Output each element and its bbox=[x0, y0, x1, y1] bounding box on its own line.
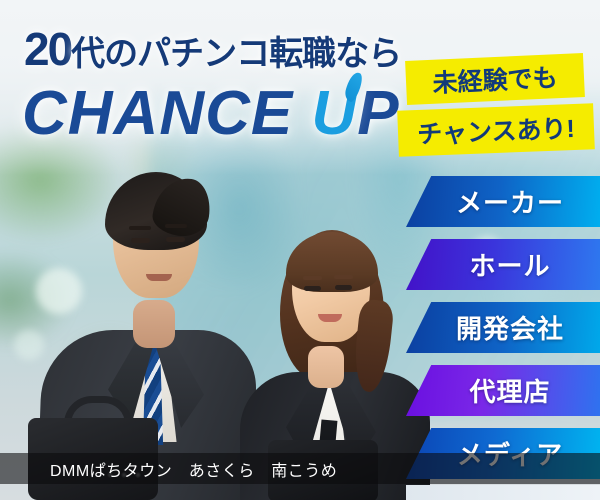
logo-letter-u: U bbox=[311, 78, 357, 149]
credit-bar: DMMぱちタウン あさくら 南こうめ bbox=[0, 453, 600, 484]
ad-banner[interactable]: 20代のパチンコ転職なら CHANCE UP 未経験でも チャンスあり! メーカ… bbox=[0, 0, 600, 500]
logo-letter-p: P bbox=[357, 79, 399, 148]
bokeh-light-2 bbox=[14, 330, 44, 360]
woman-brow-right bbox=[334, 275, 353, 279]
headline-rest: 代のパチンコ転職なら bbox=[71, 35, 401, 73]
category-item-hall[interactable]: ホール bbox=[406, 239, 600, 290]
brand-logo: CHANCE UP bbox=[22, 78, 400, 149]
woman-eye-left bbox=[304, 286, 321, 291]
category-list: メーカー ホール 開発会社 代理店 メディア bbox=[406, 176, 600, 492]
highlight-badge: 未経験でも チャンスあり! bbox=[398, 57, 594, 161]
category-label: ホール bbox=[455, 246, 550, 283]
woman-eye-right bbox=[335, 285, 352, 290]
badge-line-2: チャンスあり! bbox=[397, 103, 595, 156]
category-label: 開発会社 bbox=[442, 309, 564, 346]
category-item-maker[interactable]: メーカー bbox=[406, 176, 600, 227]
category-item-developer[interactable]: 開発会社 bbox=[406, 302, 600, 353]
man-brow-right bbox=[165, 224, 187, 228]
badge-line-1: 未経験でも bbox=[405, 53, 585, 105]
logo-word-chance: CHANCE bbox=[22, 79, 293, 148]
man-brow-left bbox=[129, 226, 151, 230]
woman-neck bbox=[308, 346, 344, 388]
category-item-agency[interactable]: 代理店 bbox=[406, 365, 600, 416]
bottom-right-light-strip bbox=[406, 485, 600, 500]
bokeh-light-1 bbox=[36, 268, 82, 314]
man-eye-right bbox=[166, 237, 185, 242]
man-mouth bbox=[146, 274, 172, 281]
page-title: 20代のパチンコ転職なら bbox=[24, 22, 401, 76]
headline-number: 20 bbox=[24, 23, 71, 75]
man-neck bbox=[133, 300, 175, 348]
category-label: 代理店 bbox=[455, 372, 550, 409]
credit-text: DMMぱちタウン あさくら 南こうめ bbox=[0, 457, 337, 481]
category-label: メーカー bbox=[442, 183, 564, 220]
woman-brow-left bbox=[303, 276, 322, 280]
man-eye-left bbox=[131, 238, 150, 243]
